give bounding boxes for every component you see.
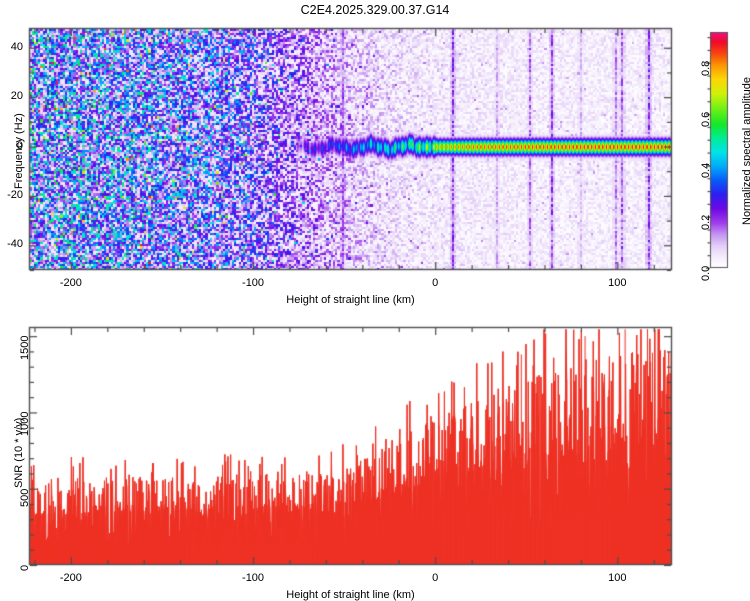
colorbar-title: Normalized spectral amplitude (742, 77, 750, 225)
spectrogram-xtick-100: 100 (587, 278, 647, 289)
snr-xaxis-title: Height of straight line (km) (29, 590, 672, 601)
colorbar-tick-0-8: 0.8 (701, 60, 712, 75)
snr-xtick-0: 0 (405, 573, 465, 584)
spectrogram-yaxis-title: Frequency (Hz) (14, 113, 25, 189)
snr-ytick-0: 0 (20, 565, 31, 571)
snr-xtick-neg200: -200 (41, 573, 101, 584)
snr-xtick-neg100: -100 (223, 573, 283, 584)
colorbar-tick-0-2: 0.2 (701, 214, 712, 229)
snr-xtick-100: 100 (587, 573, 647, 584)
spectrogram-ytick-20: 20 (0, 91, 23, 102)
snr-ytick-1500: 1500 (20, 336, 31, 360)
spectrogram-ytick-neg20: -20 (0, 190, 23, 201)
colorbar-tick-0-0: 0.0 (701, 266, 712, 281)
figure-canvas-container: C2E4.2025.329.00.37.G14 -200-1000100-40-… (0, 0, 750, 600)
colorbar-tick-0-6: 0.6 (701, 112, 712, 127)
colorbar-tick-0-4: 0.4 (701, 163, 712, 178)
snr-ytick-500: 500 (20, 488, 31, 506)
spectrogram-xtick-0: 0 (405, 278, 465, 289)
spectrogram-xaxis-title: Height of straight line (km) (29, 295, 672, 306)
figure-title: C2E4.2025.329.00.37.G14 (0, 4, 750, 17)
spectrogram-xtick-neg200: -200 (41, 278, 101, 289)
spectrogram-ytick-neg40: -40 (0, 239, 23, 250)
snr-yaxis-title: SNR (10 * v/v) (14, 418, 25, 488)
spectrogram-xtick-neg100: -100 (223, 278, 283, 289)
spectrogram-ytick-40: 40 (0, 42, 23, 53)
